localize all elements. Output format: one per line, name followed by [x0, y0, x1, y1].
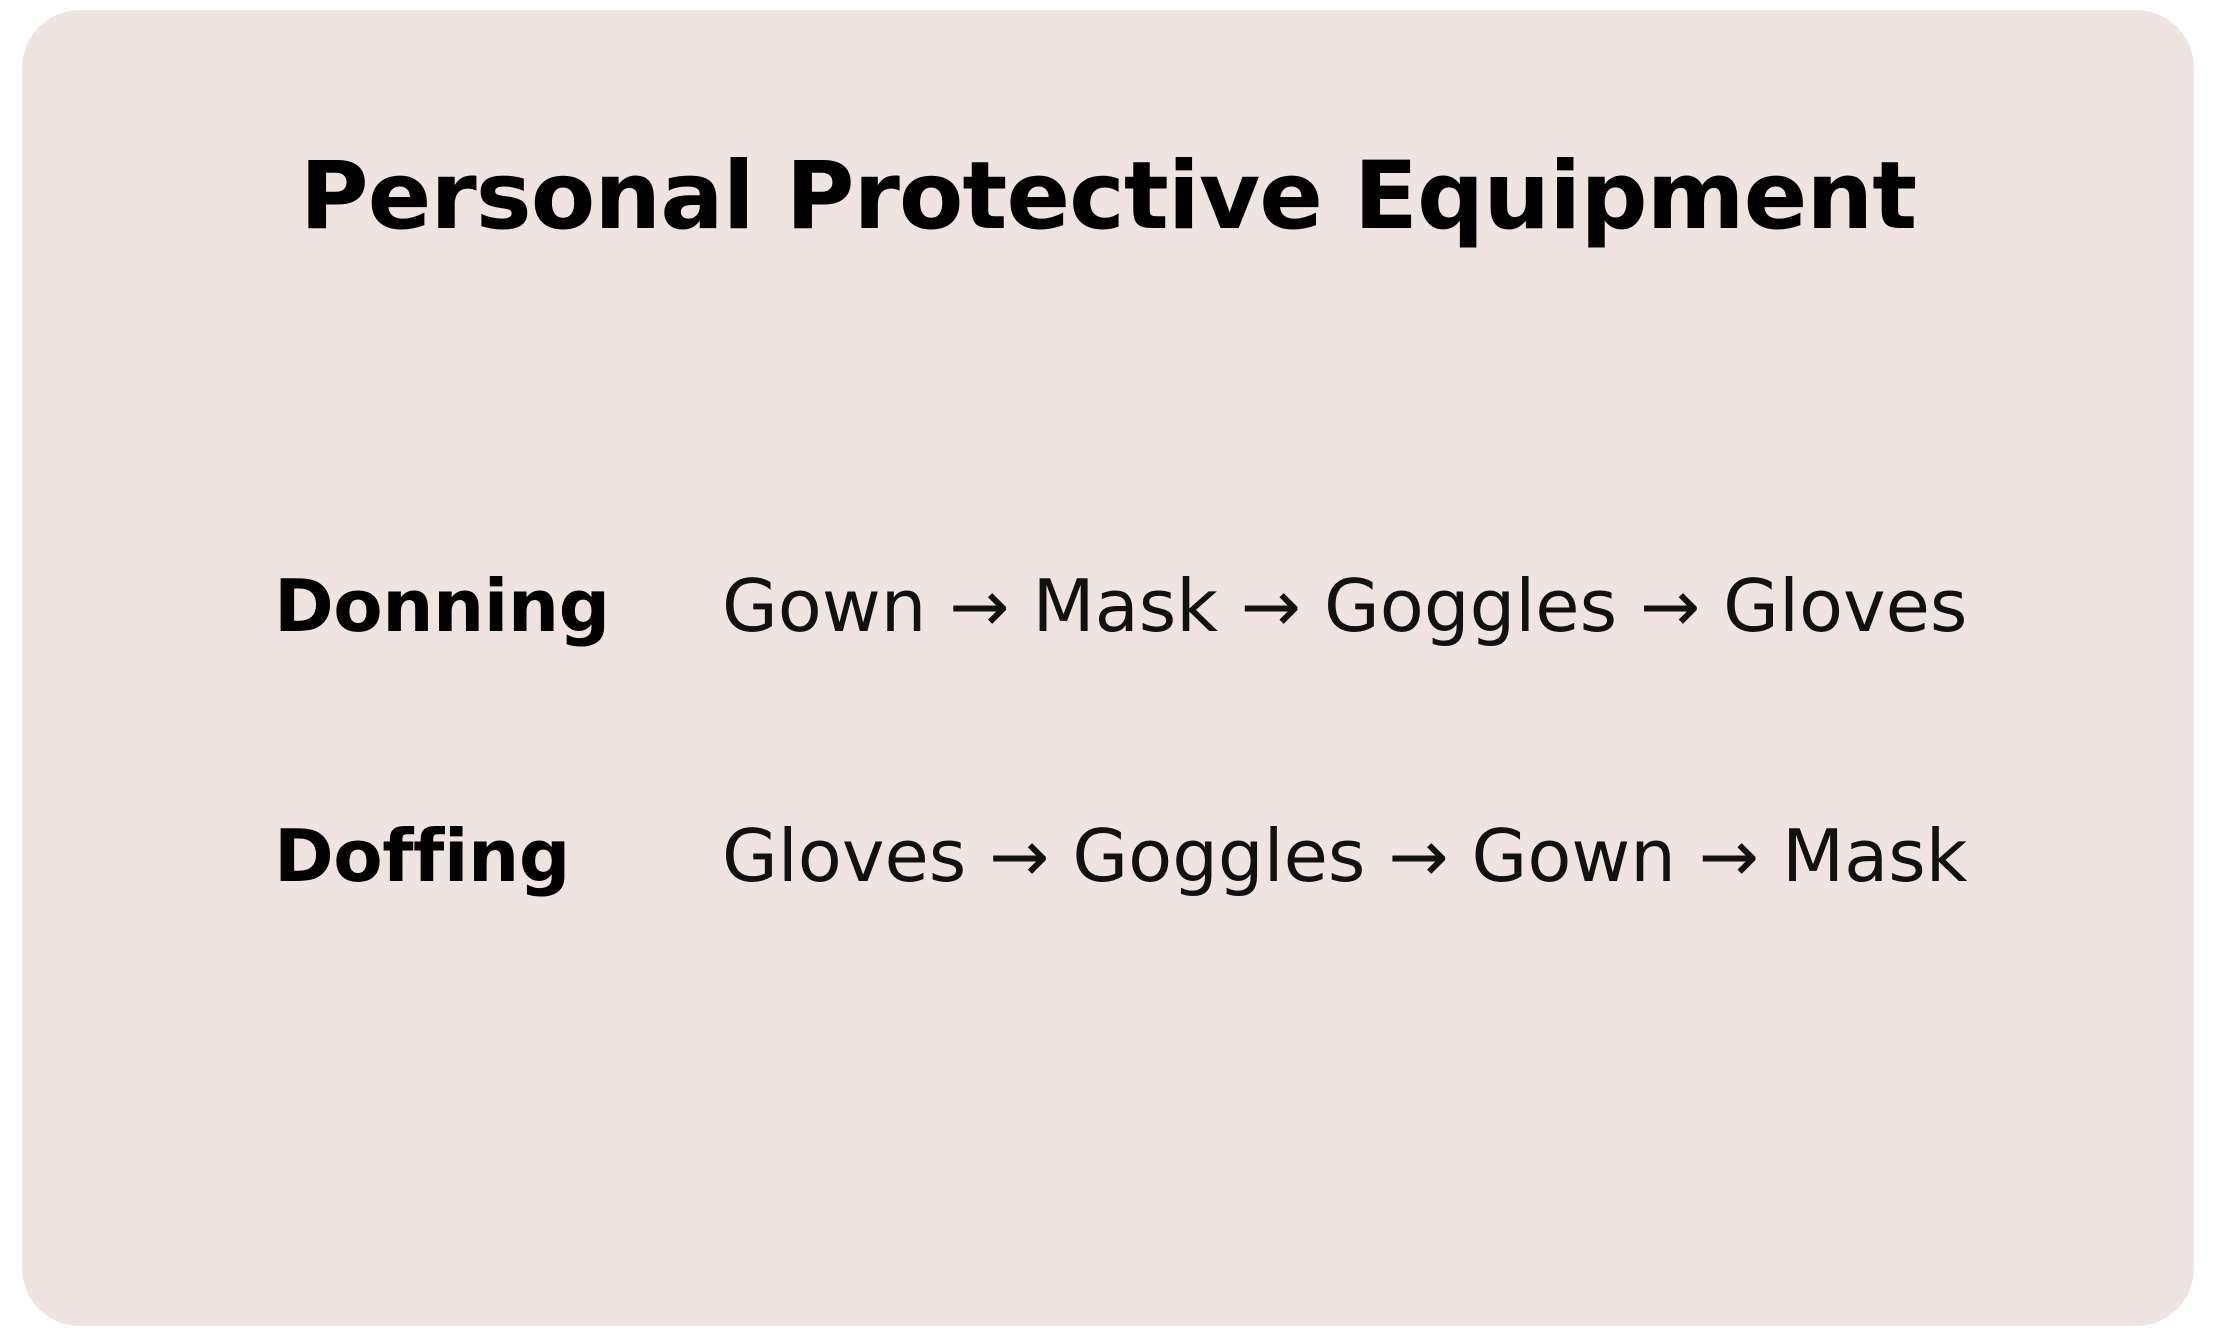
ppe-sequence-list: Donning Gown → Mask → Goggles → Gloves D…	[274, 570, 2074, 938]
ppe-row-donning: Donning Gown → Mask → Goggles → Gloves	[274, 570, 2074, 688]
ppe-row-sequence-donning: Gown → Mask → Goggles → Gloves	[722, 570, 2074, 642]
ppe-row-doffing: Doffing Gloves → Goggles → Gown → Mask	[274, 820, 2074, 938]
ppe-row-sequence-doffing: Gloves → Goggles → Gown → Mask	[722, 820, 2074, 892]
page-title: Personal Protective Equipment	[22, 150, 2194, 244]
ppe-info-card: Personal Protective Equipment Donning Go…	[22, 10, 2194, 1326]
ppe-row-label-doffing: Doffing	[274, 820, 722, 892]
ppe-row-label-donning: Donning	[274, 570, 722, 642]
page-root: Personal Protective Equipment Donning Go…	[0, 0, 2216, 1336]
